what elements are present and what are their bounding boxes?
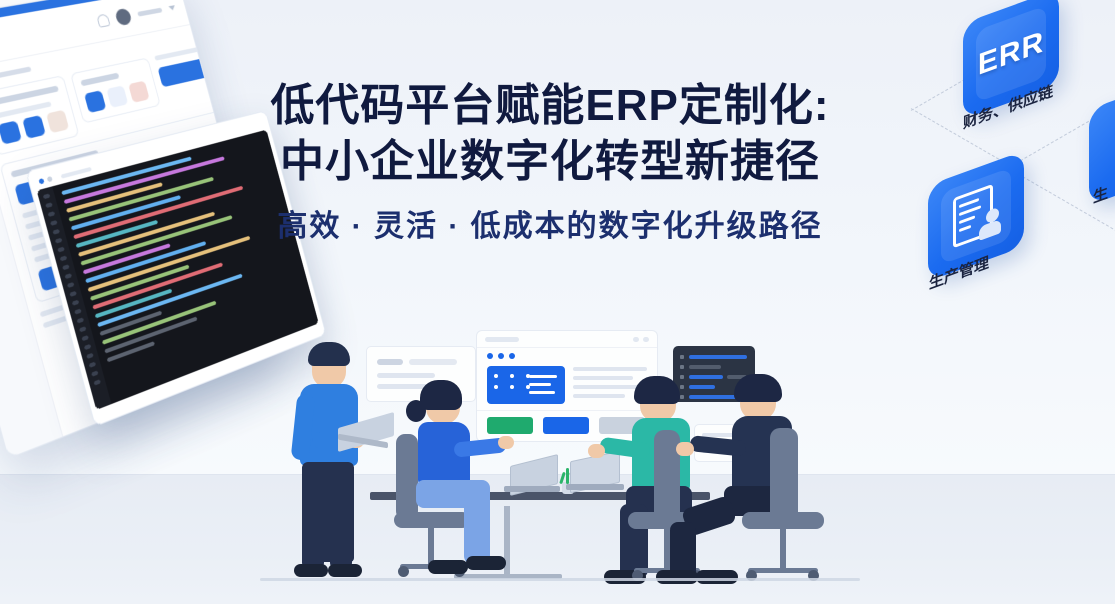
chip-icon (84, 90, 106, 113)
page-subtitle: 高效 · 灵活 · 低成本的数字化升级路径 (190, 201, 910, 245)
page-title-line1: 低代码平台赋能ERP定制化: (190, 78, 910, 134)
floor-shadow-line (260, 578, 860, 581)
erp-diagram: ERR 财务、供应链 生产管理 (893, 0, 1115, 340)
dot-icon (509, 353, 515, 359)
dot-icon (498, 353, 504, 359)
bell-icon (96, 13, 110, 27)
node-partial-caption: 生 (1093, 181, 1108, 207)
panel-widgets (70, 57, 161, 123)
office-team-illustration (258, 318, 868, 604)
chip-icon (128, 81, 149, 103)
breadcrumb (0, 66, 32, 82)
chip-icon (46, 110, 69, 134)
hero-banner: 低代码平台赋能ERP定制化: 中小企业数字化转型新捷径 高效 · 灵活 · 低成… (0, 0, 1115, 604)
person-standing (286, 336, 382, 594)
chip-icon (0, 120, 22, 144)
node-erp-label: ERR (978, 25, 1044, 83)
laptop-woman (504, 460, 556, 494)
username-placeholder (137, 7, 162, 16)
node-production-card[interactable] (928, 168, 1024, 264)
node-partial-card[interactable] (1089, 92, 1115, 188)
panel-properties (0, 75, 80, 156)
person-dark-seated (716, 376, 836, 592)
avatar (114, 7, 132, 25)
dot-icon (487, 353, 493, 359)
chip-icon (22, 115, 46, 139)
chevron-down-icon (168, 5, 175, 11)
chip-icon (106, 85, 128, 108)
headline-block: 低代码平台赋能ERP定制化: 中小企业数字化转型新捷径 高效 · 灵活 · 低成… (190, 78, 910, 245)
document-person-icon (953, 182, 999, 251)
btn-blue[interactable] (543, 417, 589, 434)
page-title-line2: 中小企业数字化转型新捷径 (190, 134, 910, 190)
person-teal-seated (610, 378, 722, 590)
